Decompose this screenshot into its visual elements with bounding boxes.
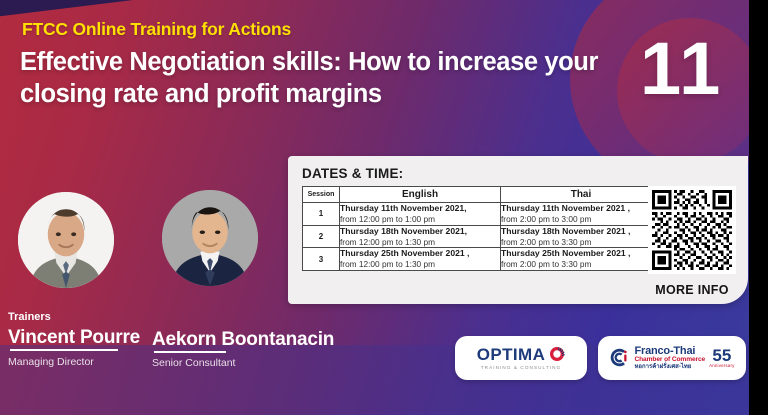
poster-kicker: FTCC Online Training for Actions: [22, 19, 291, 40]
cell-english: Thursday 25th November 2021 , from 12:00…: [340, 248, 501, 271]
top-left-accent-shape: [0, 0, 142, 21]
avatar: [18, 192, 114, 288]
cell-thai: Thursday 25th November 2021 , from 2:00 …: [501, 248, 662, 271]
cell-session: 1: [303, 203, 340, 226]
column-header-thai: Thai: [501, 187, 662, 203]
avatar: [162, 190, 258, 286]
optima-tagline: TRAINING & CONSULTING: [481, 366, 561, 371]
month-number: 11: [640, 32, 722, 106]
qr-code-container[interactable]: [648, 186, 736, 274]
franco-thai-thai-name: หอการค้าฝรั่งเศส-ไทย: [634, 364, 705, 370]
thai-date: Thursday 18th November 2021 ,: [501, 226, 661, 237]
english-time: from 12:00 pm to 1:00 pm: [340, 214, 500, 225]
thai-time: from 2:00 pm to 3:30 pm: [501, 237, 661, 248]
franco-thai-logo: Franco-Thai Chamber of Commerce หอการค้า…: [598, 336, 746, 380]
table-row: 1 Thursday 11th November 2021, from 12:0…: [303, 203, 662, 226]
anniversary-word: Anniversary: [709, 364, 734, 368]
cell-thai: Thursday 11th November 2021 , from 2:00 …: [501, 203, 662, 226]
optima-logo: OPTIMA TRAINING & CONSULTING: [455, 336, 587, 380]
portrait-aekorn-boontanacin: [162, 190, 258, 286]
card-heading: DATES & TIME:: [302, 166, 403, 181]
english-date: Thursday 18th November 2021,: [340, 226, 500, 237]
training-poster: FTCC Online Training for Actions Effecti…: [0, 0, 768, 415]
table-header-row: Session English Thai: [303, 187, 662, 203]
trainer-name-underline: [154, 351, 226, 353]
thai-date: Thursday 25th November 2021 ,: [501, 248, 661, 259]
qr-code-icon[interactable]: [652, 190, 732, 270]
franco-thai-subtitle: Chamber of Commerce: [634, 357, 705, 364]
table-row: 2 Thursday 18th November 2021, from 12:0…: [303, 225, 662, 248]
cci-icon: [609, 347, 630, 368]
optima-wordmark: OPTIMA: [477, 346, 546, 363]
column-header-session: Session: [303, 187, 340, 203]
schedule-table: Session English Thai 1 Thursday 11th Nov…: [302, 186, 662, 271]
english-date: Thursday 11th November 2021,: [340, 203, 500, 214]
english-time: from 12:00 pm to 1:30 pm: [340, 259, 500, 270]
trainers-label: Trainers: [8, 311, 51, 323]
anniversary-number: 55: [712, 347, 731, 364]
trainer-name: Aekorn Boontanacin: [152, 329, 334, 351]
english-date: Thursday 25th November 2021 ,: [340, 248, 500, 259]
more-info-label[interactable]: MORE INFO: [648, 283, 736, 297]
optima-mark-icon: [549, 346, 565, 362]
cell-english: Thursday 11th November 2021, from 12:00 …: [340, 203, 501, 226]
cell-thai: Thursday 18th November 2021 , from 2:00 …: [501, 225, 662, 248]
portrait-vincent-pourre: [18, 192, 114, 288]
thai-time: from 2:00 pm to 3:30 pm: [501, 259, 661, 270]
thai-time: from 2:00 pm to 3:00 pm: [501, 214, 661, 225]
thai-date: Thursday 11th November 2021 ,: [501, 203, 661, 214]
trainer-role: Senior Consultant: [152, 357, 235, 369]
column-header-english: English: [340, 187, 501, 203]
english-time: from 12:00 pm to 1:30 pm: [340, 237, 500, 248]
table-row: 3 Thursday 25th November 2021 , from 12:…: [303, 248, 662, 271]
cell-session: 2: [303, 225, 340, 248]
cell-session: 3: [303, 248, 340, 271]
trainer-name-underline: [10, 349, 118, 351]
cell-english: Thursday 18th November 2021, from 12:00 …: [340, 225, 501, 248]
right-edge-bar: [749, 0, 768, 415]
page-title: Effective Negotiation skills: How to inc…: [20, 46, 600, 110]
trainer-role: Managing Director: [8, 356, 94, 368]
trainer-name: Vincent Pourre: [8, 327, 140, 349]
